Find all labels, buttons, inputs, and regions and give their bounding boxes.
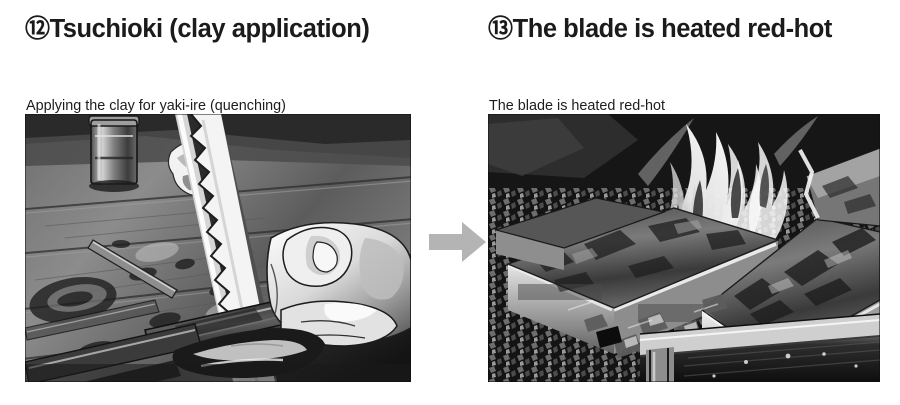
photo-clay-application xyxy=(25,114,411,382)
photo-forge-fire xyxy=(488,114,880,382)
flow-arrow-right xyxy=(429,221,486,263)
page-root: ⑫Tsuchioki (clay application) Applying t… xyxy=(0,0,900,405)
panel-heading-heated-red-hot: ⑬The blade is heated red-hot xyxy=(488,17,832,43)
page-title-heated-red-hot: The blade is heated red-hot xyxy=(513,17,832,43)
step-number-badge-13: ⑬ xyxy=(488,17,513,42)
page-title-tsuchioki: Tsuchioki (clay application) xyxy=(50,17,370,43)
panel-heading-tsuchioki: ⑫Tsuchioki (clay application) xyxy=(25,17,369,43)
step-number-badge-12: ⑫ xyxy=(25,17,50,42)
